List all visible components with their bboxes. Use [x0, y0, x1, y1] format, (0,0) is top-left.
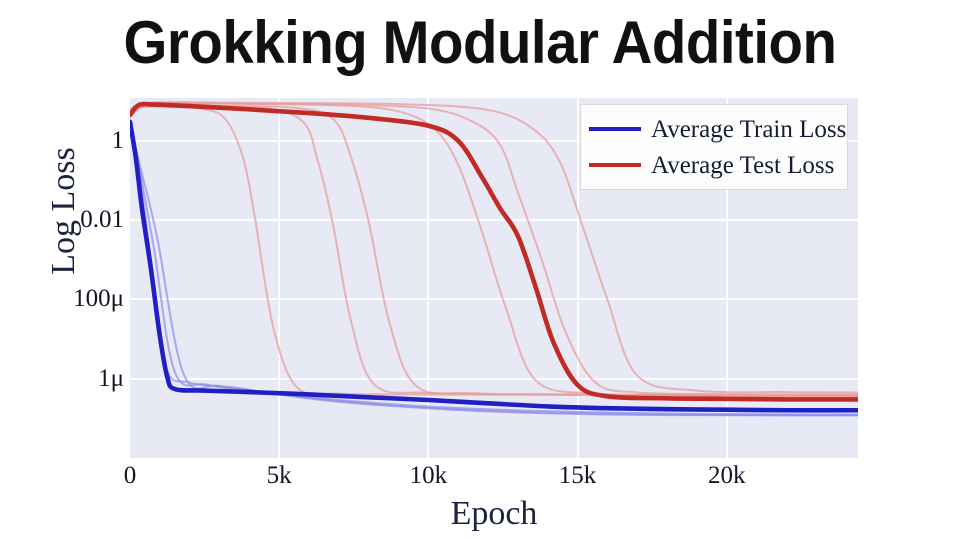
x-tick-label: 5k	[267, 462, 292, 490]
grokking-chart-figure: Grokking Modular Addition 10.01100μ1μ 05…	[0, 0, 960, 540]
x-tick-label: 0	[124, 462, 137, 490]
legend-label-train: Average Train Loss	[651, 117, 846, 142]
x-tick-label: 10k	[410, 462, 448, 490]
page-title: Grokking Modular Addition	[29, 8, 931, 77]
legend-swatch-test	[589, 163, 641, 167]
y-tick-label: 1μ	[0, 365, 124, 393]
legend-item-test[interactable]: Average Test Loss	[589, 147, 837, 183]
x-axis-label: Epoch	[130, 495, 858, 533]
legend-swatch-train	[589, 127, 641, 131]
x-tick-label: 15k	[559, 462, 597, 490]
legend-item-train[interactable]: Average Train Loss	[589, 111, 837, 147]
legend: Average Train Loss Average Test Loss	[580, 104, 848, 190]
legend-label-test: Average Test Loss	[651, 153, 834, 178]
x-tick-label: 20k	[708, 462, 746, 490]
y-axis-label: Log Loss	[45, 111, 83, 311]
